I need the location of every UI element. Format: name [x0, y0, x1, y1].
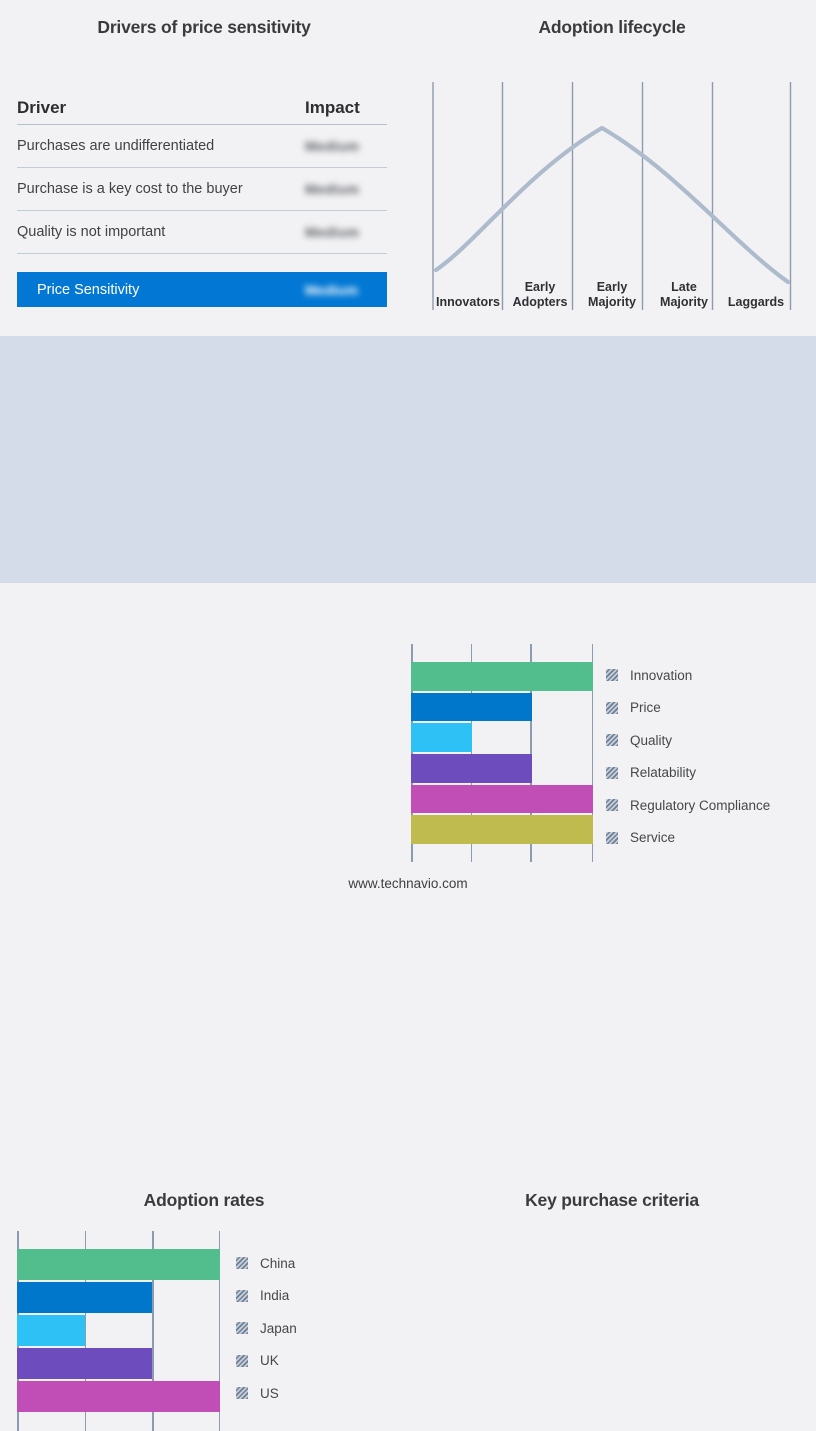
- legend-item: UK: [236, 1345, 396, 1378]
- bar-service: [411, 815, 593, 844]
- column-header-impact: Impact: [305, 98, 387, 118]
- stage-label-text: Majority: [660, 295, 708, 309]
- lifecycle-bell-curve-chart: [432, 82, 792, 310]
- legend-label: Relatability: [630, 765, 696, 780]
- legend-label: Regulatory Compliance: [630, 798, 770, 813]
- lifecycle-panel-title: Adoption lifecycle: [408, 17, 816, 38]
- driver-label: Purchases are undifferentiated: [17, 138, 305, 154]
- impact-value: Medium: [305, 181, 387, 197]
- bar-row: [411, 785, 593, 814]
- legend-label: Price: [630, 700, 661, 715]
- stage-label-text: Early: [525, 280, 556, 294]
- legend-item: US: [236, 1377, 396, 1410]
- lifecycle-stage-labels: Innovators Early Adopters Early Majority…: [432, 278, 792, 310]
- bar-row: [411, 693, 593, 722]
- lifecycle-stage-late-majority: Late Majority: [648, 280, 720, 310]
- legend-item: Innovation: [606, 659, 816, 692]
- stage-label-text: Majority: [588, 295, 636, 309]
- legend-label: Innovation: [630, 668, 692, 683]
- stage-label-text: Innovators: [436, 295, 500, 309]
- legend-item: China: [236, 1247, 396, 1280]
- hatch-swatch-icon: [606, 832, 618, 844]
- stage-label-text: Laggards: [728, 295, 784, 309]
- hatch-swatch-icon: [606, 767, 618, 779]
- importance-in-purchase-basket-panel: Importance in the customer purchase bask…: [0, 336, 816, 583]
- legend-label: Quality: [630, 733, 672, 748]
- hatch-swatch-icon: [606, 669, 618, 681]
- bar-innovation: [411, 662, 593, 691]
- bar-uk: [17, 1348, 152, 1379]
- table-header-row: Driver Impact: [17, 92, 387, 125]
- driver-label: Purchase is a key cost to the buyer: [17, 181, 305, 197]
- bar-china: [17, 1249, 220, 1280]
- adoption-rates-bar-chart: [17, 1231, 220, 1431]
- legend-label: Service: [630, 830, 675, 845]
- legend-item: Relatability: [606, 757, 816, 790]
- drivers-of-price-sensitivity-panel: Drivers of price sensitivity Driver Impa…: [0, 0, 408, 336]
- hatch-swatch-icon: [606, 734, 618, 746]
- hatch-swatch-icon: [236, 1290, 248, 1302]
- legend-item: Price: [606, 692, 816, 725]
- bar-india: [17, 1282, 152, 1313]
- hatch-swatch-icon: [606, 799, 618, 811]
- legend-label: Japan: [260, 1321, 297, 1336]
- hatch-swatch-icon: [606, 702, 618, 714]
- bar-quality: [411, 723, 472, 752]
- legend-label: China: [260, 1256, 295, 1271]
- legend-label: US: [260, 1386, 279, 1401]
- bar-row: [17, 1348, 220, 1379]
- adoption-rates-panel: Adoption rates China: [0, 583, 408, 902]
- lifecycle-stage-early-adopters: Early Adopters: [504, 280, 576, 310]
- stage-label-text: Early: [597, 280, 628, 294]
- lifecycle-stage-early-majority: Early Majority: [576, 280, 648, 310]
- drivers-table: Driver Impact Purchases are undifferenti…: [17, 92, 387, 254]
- bar-japan: [17, 1315, 85, 1346]
- key-purchase-criteria-legend: Innovation Price Quality Relatability Re…: [606, 659, 816, 854]
- legend-item: Service: [606, 822, 816, 855]
- legend-label: UK: [260, 1353, 279, 1368]
- legend-item: Japan: [236, 1312, 396, 1345]
- hatch-swatch-icon: [236, 1355, 248, 1367]
- criteria-bars: [411, 662, 593, 844]
- bar-row: [411, 815, 593, 844]
- lifecycle-gridlines: [433, 82, 791, 310]
- impact-value: Medium: [305, 138, 387, 154]
- hatch-swatch-icon: [236, 1257, 248, 1269]
- key-purchase-criteria-bar-chart: [411, 644, 593, 862]
- adoption-bars: [17, 1249, 220, 1413]
- legend-item: India: [236, 1280, 396, 1313]
- column-header-driver: Driver: [17, 98, 305, 118]
- adoption-curve: [436, 128, 788, 282]
- price-sensitivity-label: Price Sensitivity: [37, 282, 305, 298]
- bar-regulatory-compliance: [411, 785, 593, 814]
- bar-us: [17, 1381, 220, 1412]
- legend-label: India: [260, 1288, 289, 1303]
- bar-row: [17, 1282, 220, 1313]
- bar-row: [17, 1315, 220, 1346]
- bar-row: [411, 723, 593, 752]
- legend-item: Regulatory Compliance: [606, 789, 816, 822]
- price-sensitivity-summary-row: Price Sensitivity Medium: [17, 272, 387, 307]
- adoption-lifecycle-panel: Adoption lifecycle Innovators Early Adop…: [408, 0, 816, 336]
- legend-item: Quality: [606, 724, 816, 757]
- price-sensitivity-impact: Medium: [305, 282, 387, 298]
- table-row: Purchase is a key cost to the buyer Medi…: [17, 168, 387, 211]
- driver-label: Quality is not important: [17, 224, 305, 240]
- lifecycle-stage-laggards: Laggards: [720, 295, 792, 311]
- footer-url: www.technavio.com: [0, 876, 816, 891]
- stage-label-text: Adopters: [513, 295, 568, 309]
- stage-label-text: Late: [671, 280, 697, 294]
- bar-row: [17, 1249, 220, 1280]
- bar-row: [17, 1381, 220, 1412]
- bar-row: [411, 662, 593, 691]
- lifecycle-stage-innovators: Innovators: [432, 295, 504, 311]
- bar-price: [411, 693, 532, 722]
- bar-relatability: [411, 754, 532, 783]
- bar-row: [411, 754, 593, 783]
- adoption-rates-legend: China India Japan UK US: [236, 1247, 396, 1410]
- hatch-swatch-icon: [236, 1387, 248, 1399]
- adoption-rates-title: Adoption rates: [0, 1190, 408, 1211]
- hatch-swatch-icon: [236, 1322, 248, 1334]
- impact-value: Medium: [305, 224, 387, 240]
- table-row: Purchases are undifferentiated Medium: [17, 125, 387, 168]
- drivers-panel-title: Drivers of price sensitivity: [0, 17, 408, 38]
- table-row: Quality is not important Medium: [17, 211, 387, 254]
- key-purchase-criteria-title: Key purchase criteria: [408, 1190, 816, 1211]
